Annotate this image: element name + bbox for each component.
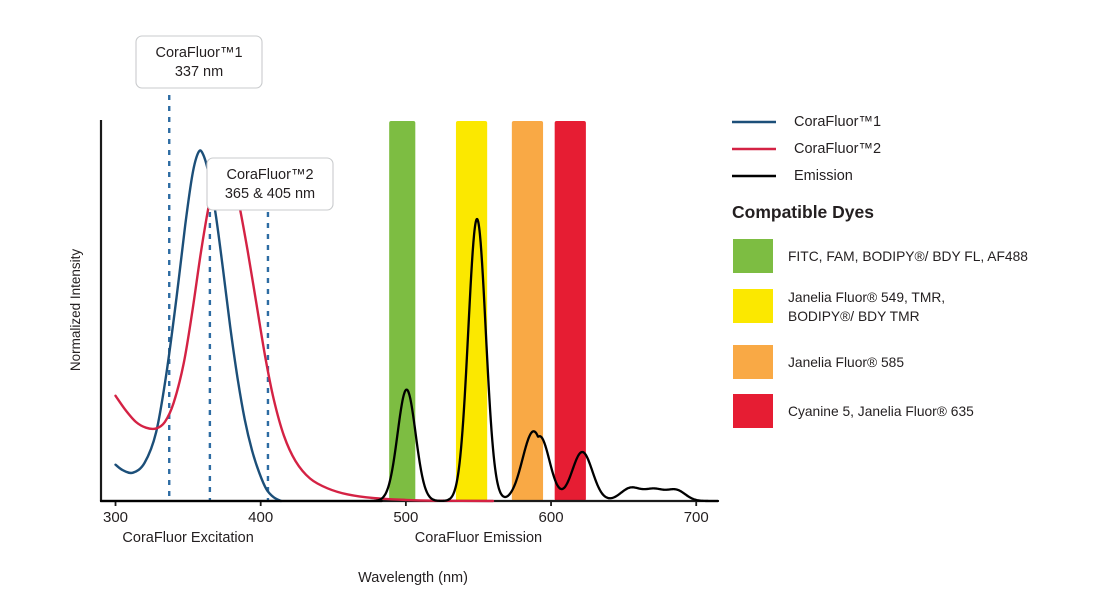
x-tick-label: 600 [539, 509, 564, 526]
spectra-figure: 300400500600700 CoraFluor ExcitationCora… [0, 0, 1110, 612]
callouts-group: CoraFluor™1337 nmCoraFluor™2365 & 405 nm [136, 36, 333, 210]
corafluor2-callout-line2: 365 & 405 nm [225, 186, 315, 202]
legend-group: CoraFluor™1CoraFluor™2Emission [732, 114, 881, 184]
dye-yellow-label-line2: BODIPY®/ BDY TMR [788, 309, 920, 324]
corafluor1-callout-line1: CoraFluor™1 [155, 45, 242, 61]
legend-corafluor2-label: CoraFluor™2 [794, 141, 881, 157]
x-tick-label: 500 [393, 509, 418, 526]
dye-green-label: FITC, FAM, BODIPY®/ BDY FL, AF488 [788, 249, 1028, 264]
dye-red-swatch [733, 394, 773, 428]
dye-yellow-label: Janelia Fluor® 549, TMR, [788, 290, 945, 305]
legend-corafluor1-label: CoraFluor™1 [794, 114, 881, 130]
x-tick-label: 700 [684, 509, 709, 526]
corafluor1-callout: CoraFluor™1337 nm [136, 36, 262, 88]
dye-red-label: Cyanine 5, Janelia Fluor® 635 [788, 404, 974, 419]
corafluor1-callout-box [136, 36, 262, 88]
axis-section-label: CoraFluor Emission [415, 530, 542, 546]
x-tick-label: 300 [103, 509, 128, 526]
dye-green-swatch [733, 239, 773, 273]
dye-orange-label: Janelia Fluor® 585 [788, 355, 904, 370]
excitation-marker-lines [169, 95, 268, 501]
x-tick-label: 400 [248, 509, 273, 526]
compatible-dyes-heading: Compatible Dyes [732, 202, 874, 222]
x-axis-title: Wavelength (nm) [358, 570, 468, 586]
green-band [389, 121, 415, 501]
corafluor2-callout: CoraFluor™2365 & 405 nm [207, 158, 333, 210]
corafluor2-callout-line1: CoraFluor™2 [226, 167, 313, 183]
axis-section-label: CoraFluor Excitation [122, 530, 253, 546]
corafluor1-callout-line2: 337 nm [175, 64, 223, 80]
spectra-chart-svg: 300400500600700 CoraFluor ExcitationCora… [0, 0, 1110, 612]
red-band [555, 121, 586, 501]
axis-section-labels: CoraFluor ExcitationCoraFluor Emission [122, 530, 542, 546]
dye-yellow-swatch [733, 289, 773, 323]
legend-emission-label: Emission [794, 168, 853, 184]
dye-orange-swatch [733, 345, 773, 379]
x-tick-labels-group: 300400500600700 [103, 501, 709, 526]
compatible-dyes-group: FITC, FAM, BODIPY®/ BDY FL, AF488Janelia… [733, 239, 1028, 428]
corafluor2-callout-box [207, 158, 333, 210]
emission-bands-group [389, 121, 586, 501]
y-axis-title: Normalized Intensity [68, 249, 83, 372]
